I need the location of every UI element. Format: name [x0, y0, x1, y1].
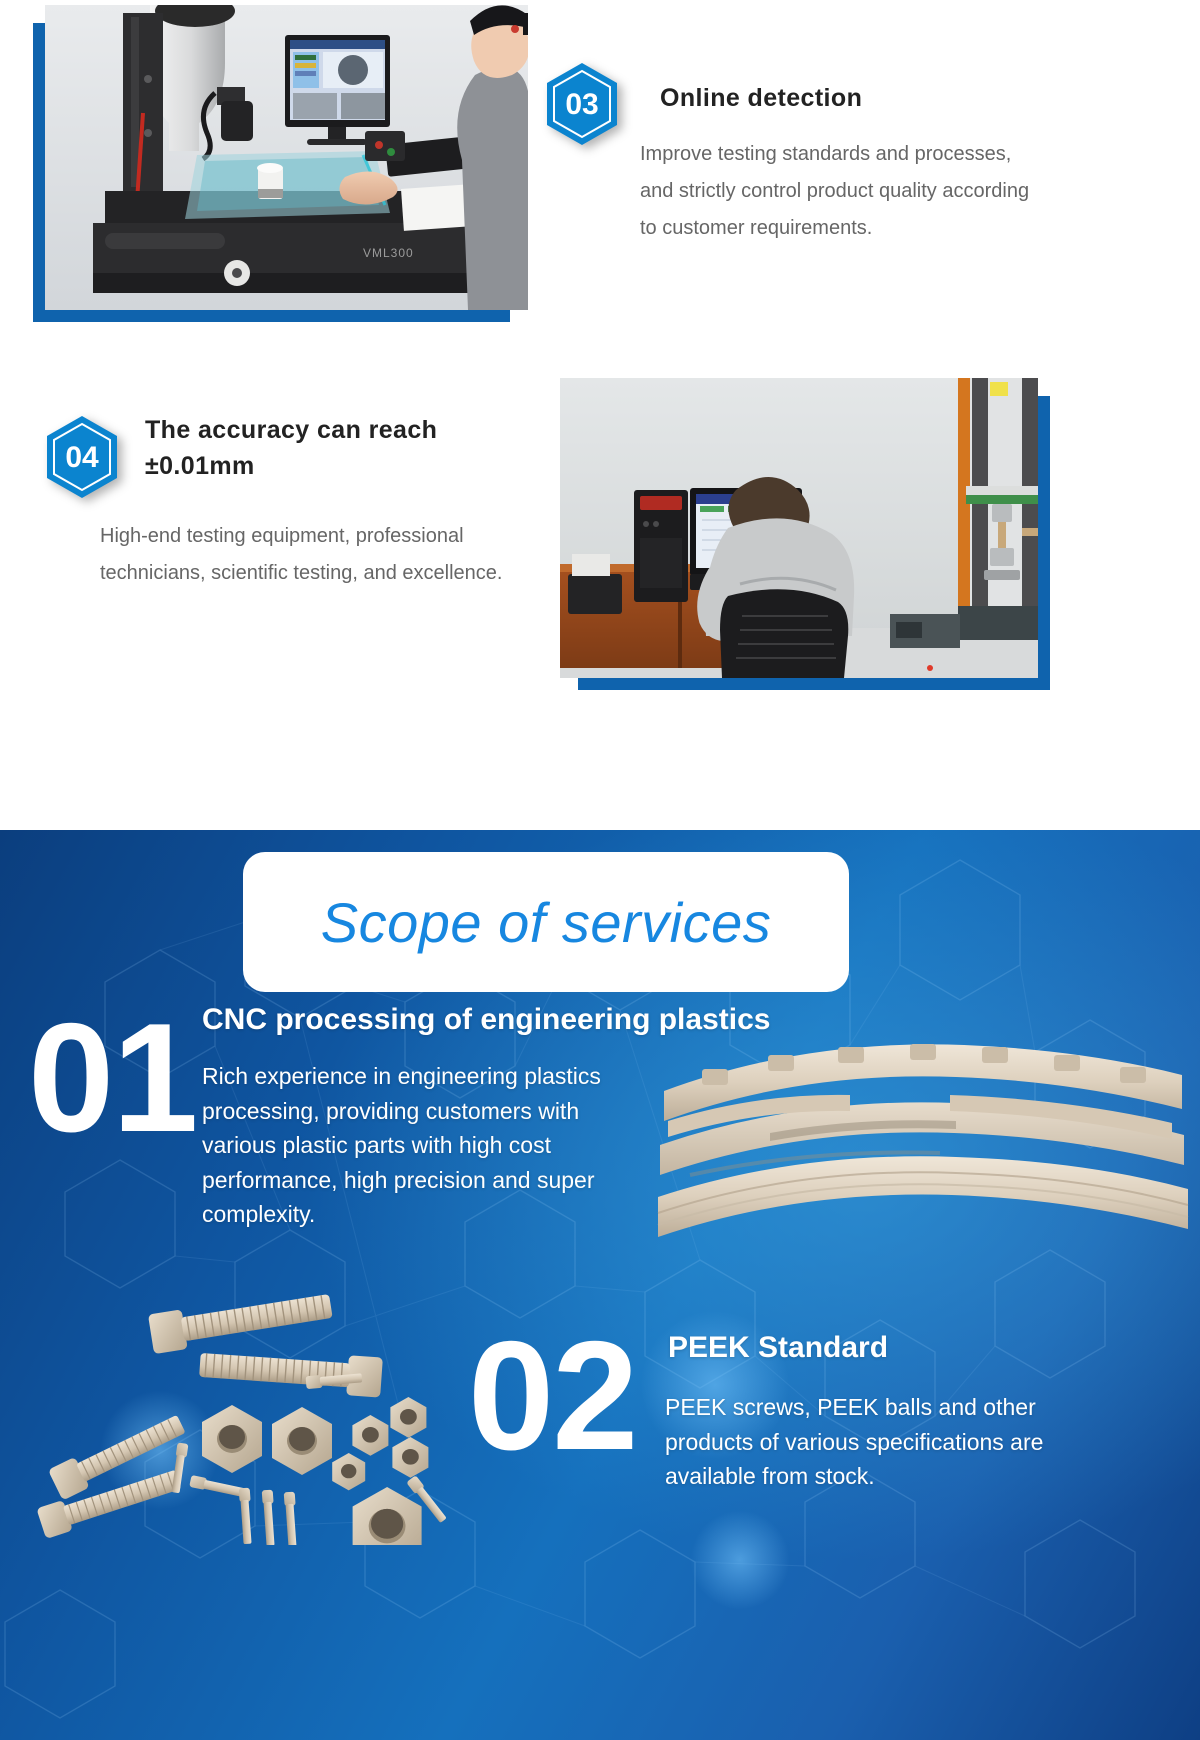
service-title-cnc: CNC processing of engineering plastics: [202, 1000, 1002, 1039]
page-title: Scope of services: [321, 890, 771, 955]
tensile-testing-machine-photo: [560, 378, 1038, 678]
vision-measuring-machine-photo: VML300: [45, 5, 528, 310]
photo-accent-bar-left: [33, 23, 45, 322]
feature-body-accuracy: High-end testing equipment, professional…: [100, 518, 540, 592]
service-number-01: 01: [28, 1000, 196, 1155]
glow-dot: [690, 1510, 790, 1610]
feature-title-accuracy: The accuracy can reach ±0.01mm: [145, 412, 525, 485]
feature-photo-accuracy: [560, 378, 1038, 678]
peek-screws-nuts-photo: [30, 1255, 460, 1545]
photo-accent-bar-right: [1038, 396, 1050, 690]
scope-title-box: Scope of services: [243, 852, 849, 992]
hexagon-badge-icon-03: 03: [545, 62, 619, 146]
service-body-peek: PEEK screws, PEEK balls and other produc…: [665, 1390, 1085, 1494]
photo-accent-bar-bottom: [33, 310, 510, 322]
service-number-02: 02: [468, 1318, 636, 1473]
service-body-cnc: Rich experience in engineering plastics …: [202, 1059, 632, 1232]
hexagon-badge-number-04: 04: [65, 441, 99, 474]
svg-text:VML300: VML300: [363, 246, 414, 260]
feature-photo-online-detection: VML300: [45, 5, 528, 310]
features-section: VML300 03 Online detection Improve testi…: [0, 0, 1200, 830]
hexagon-badge-icon-04: 04: [45, 415, 119, 499]
service-title-peek: PEEK Standard: [668, 1328, 1168, 1367]
hexagon-badge-number-03: 03: [565, 88, 598, 121]
feature-title-online-detection: Online detection: [660, 80, 1080, 116]
peek-machined-part-photo: [650, 1025, 1195, 1260]
photo-accent-bar-bottom-right: [578, 678, 1050, 690]
scope-of-services-section: Scope of services: [0, 830, 1200, 1740]
feature-body-online-detection: Improve testing standards and processes,…: [640, 136, 1030, 247]
